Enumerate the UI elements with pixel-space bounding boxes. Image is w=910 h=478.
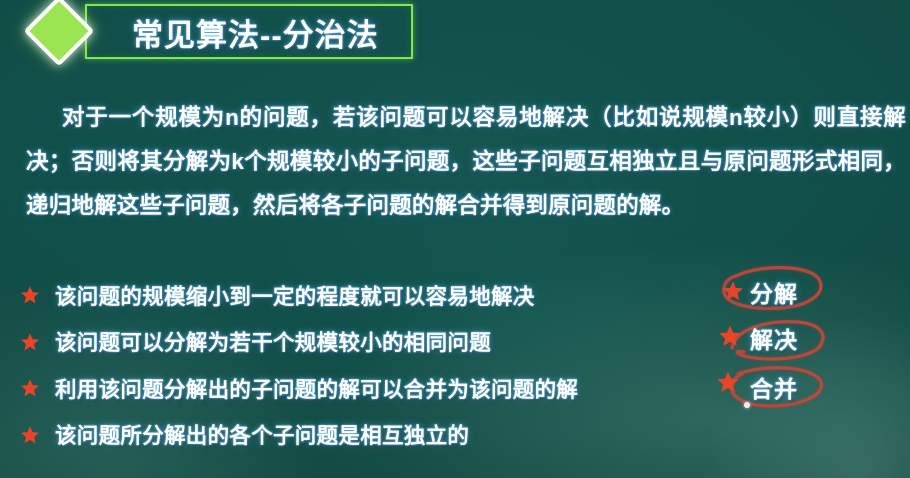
annotation-label: 分解 xyxy=(750,275,798,309)
star-icon xyxy=(20,332,40,352)
bullet-list: 该问题的规模缩小到一定的程度就可以容易地解决 该问题可以分解为若干个规模较小的相… xyxy=(18,272,658,458)
presentation-slide: 常见算法--分治法 对于一个规模为n的问题，若该问题可以容易地解决（比如说规模n… xyxy=(0,0,910,478)
star-icon xyxy=(20,425,40,445)
star-icon xyxy=(718,324,740,346)
diamond-bullet-icon xyxy=(24,0,95,66)
star-icon xyxy=(20,378,40,398)
annotation-item: 合并 xyxy=(706,362,906,414)
annotation-item: 解决 xyxy=(706,314,906,366)
list-item: 该问题的规模缩小到一定的程度就可以容易地解决 xyxy=(18,272,658,319)
star-icon xyxy=(722,280,744,302)
page-title: 常见算法--分治法 xyxy=(132,10,379,55)
list-item-label: 该问题可以分解为若干个规模较小的相同问题 xyxy=(55,326,491,357)
list-item: 该问题可以分解为若干个规模较小的相同问题 xyxy=(18,319,658,366)
list-item-label: 该问题所分解出的各个子问题是相互独立的 xyxy=(55,419,469,450)
cursor-pointer xyxy=(744,402,750,408)
star-icon xyxy=(20,285,40,305)
list-item: 利用该问题分解出的子问题的解可以合并为该问题的解 xyxy=(18,365,658,412)
annotation-label: 解决 xyxy=(750,321,798,355)
list-item-label: 利用该问题分解出的子问题的解可以合并为该问题的解 xyxy=(55,373,578,404)
annotation-item: 分解 xyxy=(706,266,906,318)
star-icon xyxy=(716,370,738,392)
list-item-label: 该问题的规模缩小到一定的程度就可以容易地解决 xyxy=(55,280,535,311)
body-paragraph: 对于一个规模为n的问题，若该问题可以容易地解决（比如说规模n较小）则直接解决；否… xyxy=(26,96,906,228)
annotation-group: 分解 解决 合并 xyxy=(706,262,906,422)
annotation-label: 合并 xyxy=(750,370,798,404)
list-item: 该问题所分解出的各个子问题是相互独立的 xyxy=(18,412,658,459)
